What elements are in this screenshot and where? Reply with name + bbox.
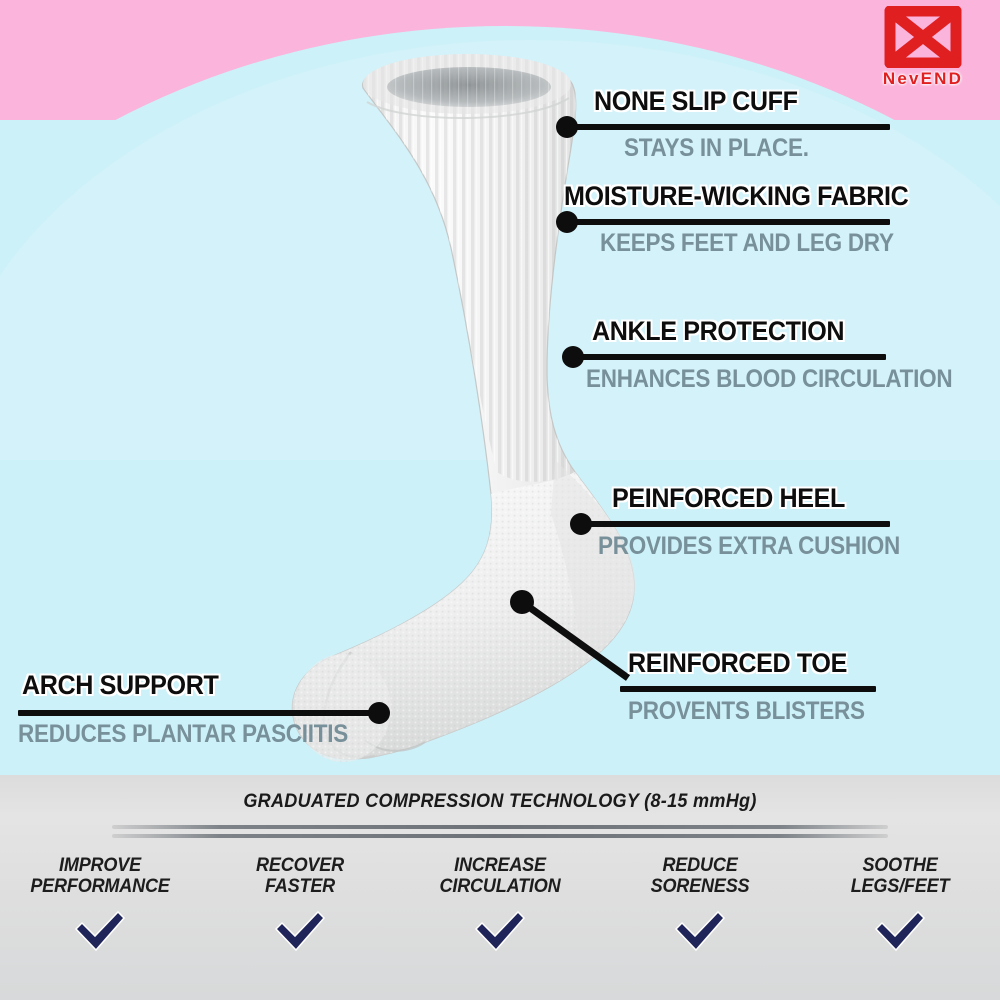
bowtie-logo-icon bbox=[884, 6, 962, 68]
benefit-item: INCREASE CIRCULATION bbox=[400, 855, 600, 955]
benefit-label-line1: IMPROVE bbox=[59, 855, 141, 876]
benefit-item: REDUCE SORENESS bbox=[600, 855, 800, 955]
callout-subtitle: KEEPS FEET AND LEG DRY bbox=[600, 231, 894, 256]
benefit-label-line1: RECOVER bbox=[256, 855, 344, 876]
benefit-label-line2: FASTER bbox=[265, 876, 335, 897]
benefits-row: IMPROVE PERFORMANCE RECOVER FASTER bbox=[0, 855, 1000, 955]
checkmark-icon bbox=[0, 907, 200, 955]
callout-title: ARCH SUPPORT bbox=[22, 672, 218, 699]
callout-title: REINFORCED TOE bbox=[628, 650, 847, 677]
checkmark-icon bbox=[800, 907, 1000, 955]
callout-dot bbox=[368, 702, 390, 724]
checkmark-icon bbox=[200, 907, 400, 955]
callout-title: ANKLE PROTECTION bbox=[592, 318, 844, 345]
checkmark-icon bbox=[400, 907, 600, 955]
benefit-label-line1: INCREASE bbox=[454, 855, 546, 876]
infographic-canvas: NevEND bbox=[0, 0, 1000, 1000]
callout-rule bbox=[588, 521, 890, 527]
brand-logo: NevEND bbox=[860, 6, 986, 94]
benefit-label-line2: CIRCULATION bbox=[440, 876, 561, 897]
callout-title: NONE SLIP CUFF bbox=[594, 88, 798, 115]
callout-dot bbox=[562, 346, 584, 368]
panel-title: GRADUATED COMPRESSION TECHNOLOGY (8-15 m… bbox=[25, 791, 975, 813]
benefit-label-line2: PERFORMANCE bbox=[30, 876, 169, 897]
callout-rule bbox=[580, 354, 886, 360]
benefit-label-line2: SORENESS bbox=[651, 876, 750, 897]
callout-title: PEINFORCED HEEL bbox=[612, 485, 845, 512]
callout-subtitle: STAYS IN PLACE. bbox=[624, 136, 809, 161]
callout-subtitle: PROVIDES EXTRA CUSHION bbox=[598, 534, 900, 559]
benefit-label-line2: LEGS/FEET bbox=[851, 876, 950, 897]
benefit-item: IMPROVE PERFORMANCE bbox=[0, 855, 200, 955]
callout-dot bbox=[570, 513, 592, 535]
panel-divider bbox=[112, 825, 888, 838]
benefit-item: RECOVER FASTER bbox=[200, 855, 400, 955]
callout-rule bbox=[18, 710, 374, 716]
callout-rule bbox=[574, 219, 890, 225]
callout-dot bbox=[556, 211, 578, 233]
checkmark-icon bbox=[600, 907, 800, 955]
divider-line-top bbox=[112, 825, 888, 829]
divider-line-bottom bbox=[112, 834, 888, 838]
callout-title: MOISTURE-WICKING FABRIC bbox=[564, 183, 908, 210]
callout-rule bbox=[574, 124, 890, 130]
callout-toe-leader-line bbox=[500, 580, 640, 690]
benefit-item: SOOTHE LEGS/FEET bbox=[800, 855, 1000, 955]
callout-subtitle: PROVENTS BLISTERS bbox=[628, 699, 865, 724]
benefit-label-line1: SOOTHE bbox=[862, 855, 937, 876]
callout-rule bbox=[620, 686, 876, 692]
benefit-label-line1: REDUCE bbox=[662, 855, 737, 876]
callout-subtitle: ENHANCES BLOOD CIRCULATION bbox=[586, 367, 952, 392]
callout-dot bbox=[556, 116, 578, 138]
callout-subtitle: REDUCES PLANTAR PASCIITIS bbox=[18, 722, 348, 747]
compression-panel: GRADUATED COMPRESSION TECHNOLOGY (8-15 m… bbox=[0, 775, 1000, 1000]
brand-name: NevEND bbox=[860, 69, 986, 89]
